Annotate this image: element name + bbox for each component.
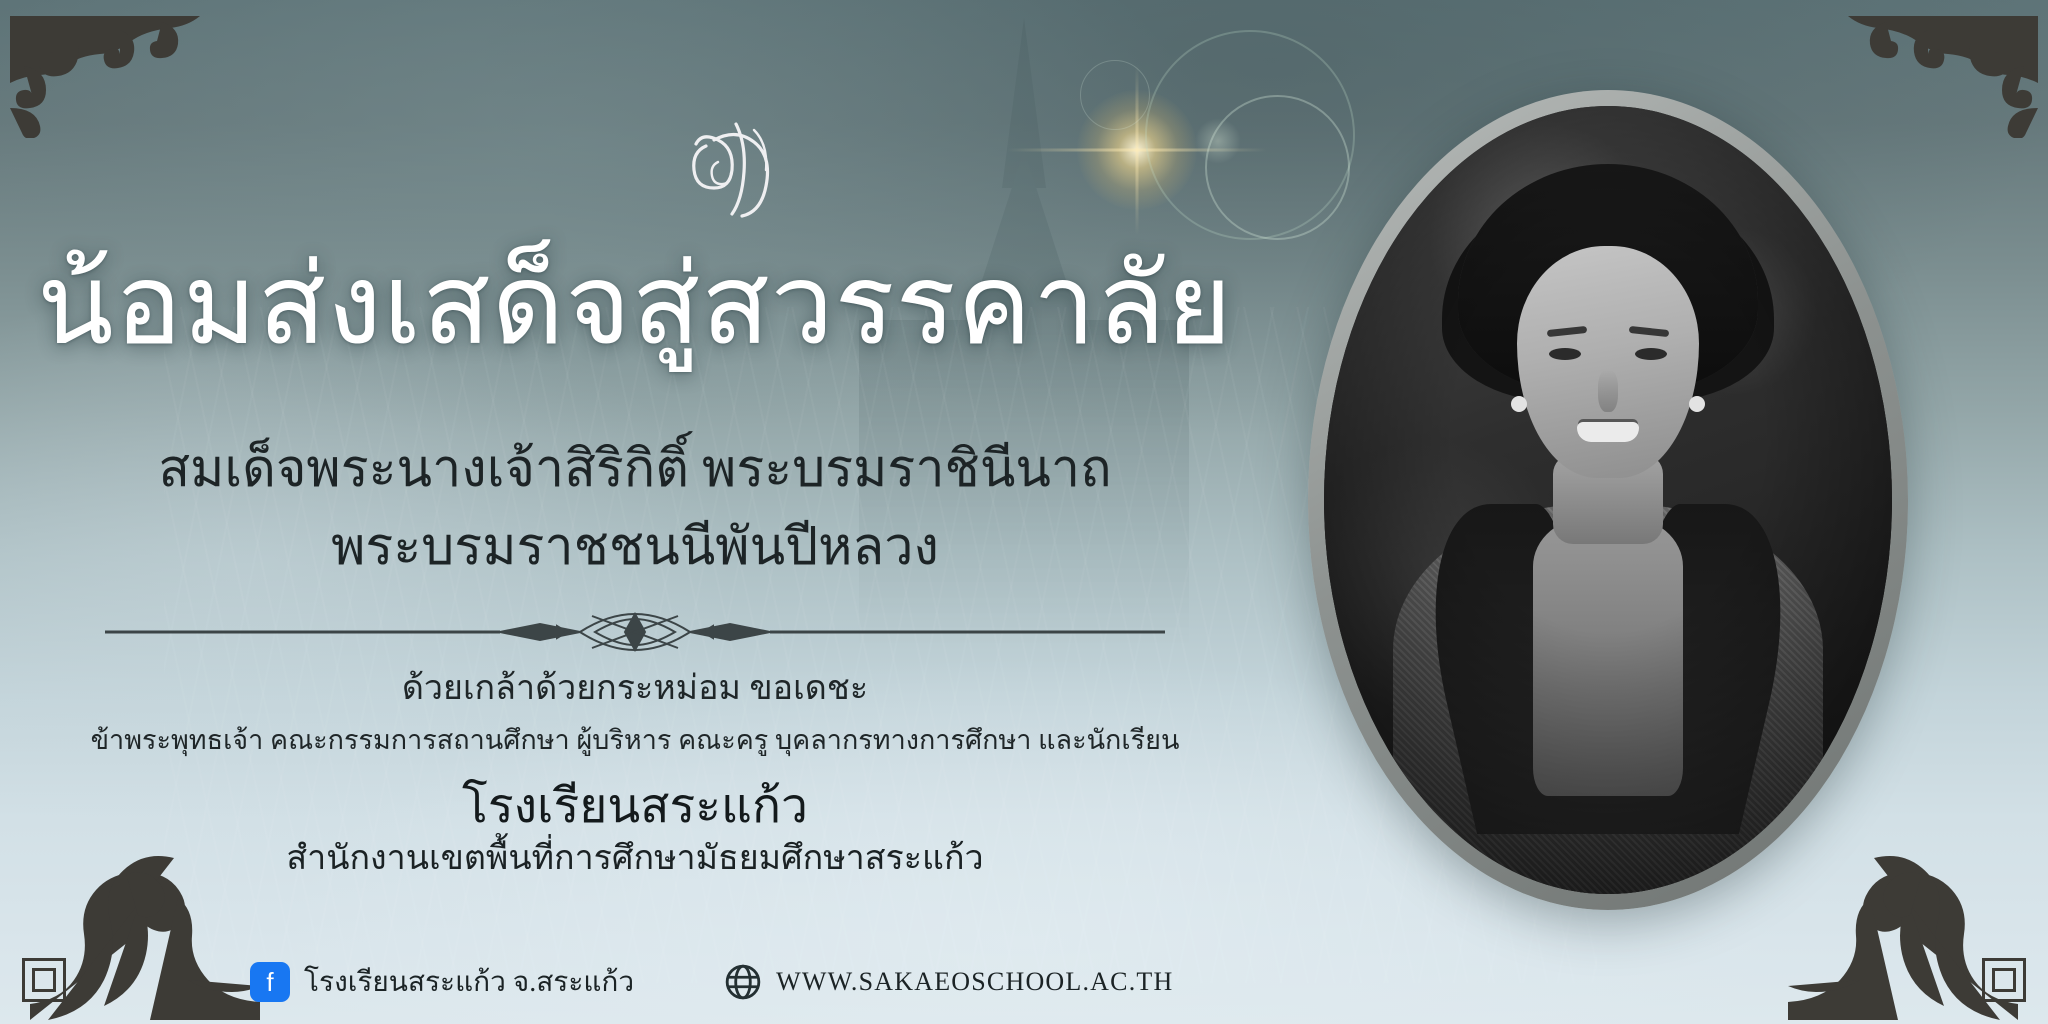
- dedication-text: ด้วยเกล้าด้วยกระหม่อม ขอเดชะ: [0, 660, 1270, 714]
- footer-contacts: f โรงเรียนสระแก้ว จ.สระแก้ว WWW.SAKAEOSC…: [250, 960, 1173, 1004]
- attribution-text: ข้าพระพุทธเจ้า คณะกรรมการสถานศึกษา ผู้บร…: [0, 718, 1270, 761]
- education-office-name: สำนักงานเขตพื้นที่การศึกษามัธยมศึกษาสระแ…: [0, 830, 1270, 884]
- portrait-photo: [1324, 106, 1892, 894]
- facebook-icon[interactable]: f: [250, 962, 290, 1002]
- facebook-link[interactable]: f โรงเรียนสระแก้ว จ.สระแก้ว: [250, 960, 634, 1004]
- corner-square-motif-bottom-right: [1982, 958, 2026, 1002]
- memorial-banner: น้อมส่งเสด็จสู่สวรรคาลัย สมเด็จพระนางเจ้…: [0, 0, 2048, 1024]
- text-column: น้อมส่งเสด็จสู่สวรรคาลัย สมเด็จพระนางเจ้…: [0, 0, 1270, 1024]
- ornamental-divider-icon: [105, 612, 1165, 652]
- subtitle-line-2: พระบรมราชชนนีพันปีหลวง: [0, 518, 1270, 578]
- portrait-container: [1308, 90, 1908, 910]
- headline: น้อมส่งเสด็จสู่สวรรคาลัย: [0, 248, 1270, 366]
- globe-icon[interactable]: [724, 963, 762, 1001]
- corner-square-motif-top-right: [1982, 22, 2026, 66]
- subtitle-line-1: สมเด็จพระนางเจ้าสิริกิติ์ พระบรมราชินีนา…: [0, 440, 1270, 500]
- website-url: WWW.SAKAEOSCHOOL.AC.TH: [776, 967, 1173, 997]
- website-link[interactable]: WWW.SAKAEOSCHOOL.AC.TH: [724, 963, 1173, 1001]
- portrait-oval-frame: [1308, 90, 1908, 910]
- facebook-page-name: โรงเรียนสระแก้ว จ.สระแก้ว: [304, 960, 634, 1004]
